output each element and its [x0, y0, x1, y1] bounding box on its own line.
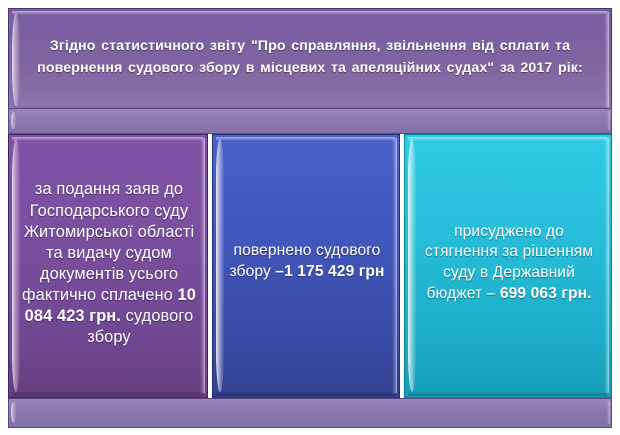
- stat-card-returned-fees-text: повернено судового збору –1 175 429 грн: [213, 135, 399, 397]
- title-banner-text: Згідно статистичного звіту "Про справлян…: [9, 9, 611, 111]
- decorative-frame-bar-bottom: [8, 398, 612, 428]
- awarded-budget-amount: 699 063 грн.: [500, 285, 592, 302]
- stat-card-awarded-budget-text: присуджено до стягнення за рішенням суду…: [405, 135, 611, 397]
- stat-card-paid-fees-text: за подання заяв до Господарського суду Ж…: [9, 135, 207, 397]
- title-banner: Згідно статистичного звіту "Про справлян…: [8, 8, 612, 112]
- stat-card-awarded-budget: присуджено до стягнення за рішенням суду…: [404, 134, 612, 398]
- returned-fees-amount: –1 175 429 грн: [275, 263, 384, 280]
- stat-card-paid-fees: за подання заяв до Господарського суду Ж…: [8, 134, 208, 398]
- slide-canvas: Згідно статистичного звіту "Про справлян…: [0, 0, 620, 435]
- stat-card-returned-fees: повернено судового збору –1 175 429 грн: [212, 134, 400, 398]
- paid-fees-label-before: за подання заяв до Господарського суду Ж…: [22, 180, 194, 304]
- decorative-frame-bar-top: [8, 108, 612, 134]
